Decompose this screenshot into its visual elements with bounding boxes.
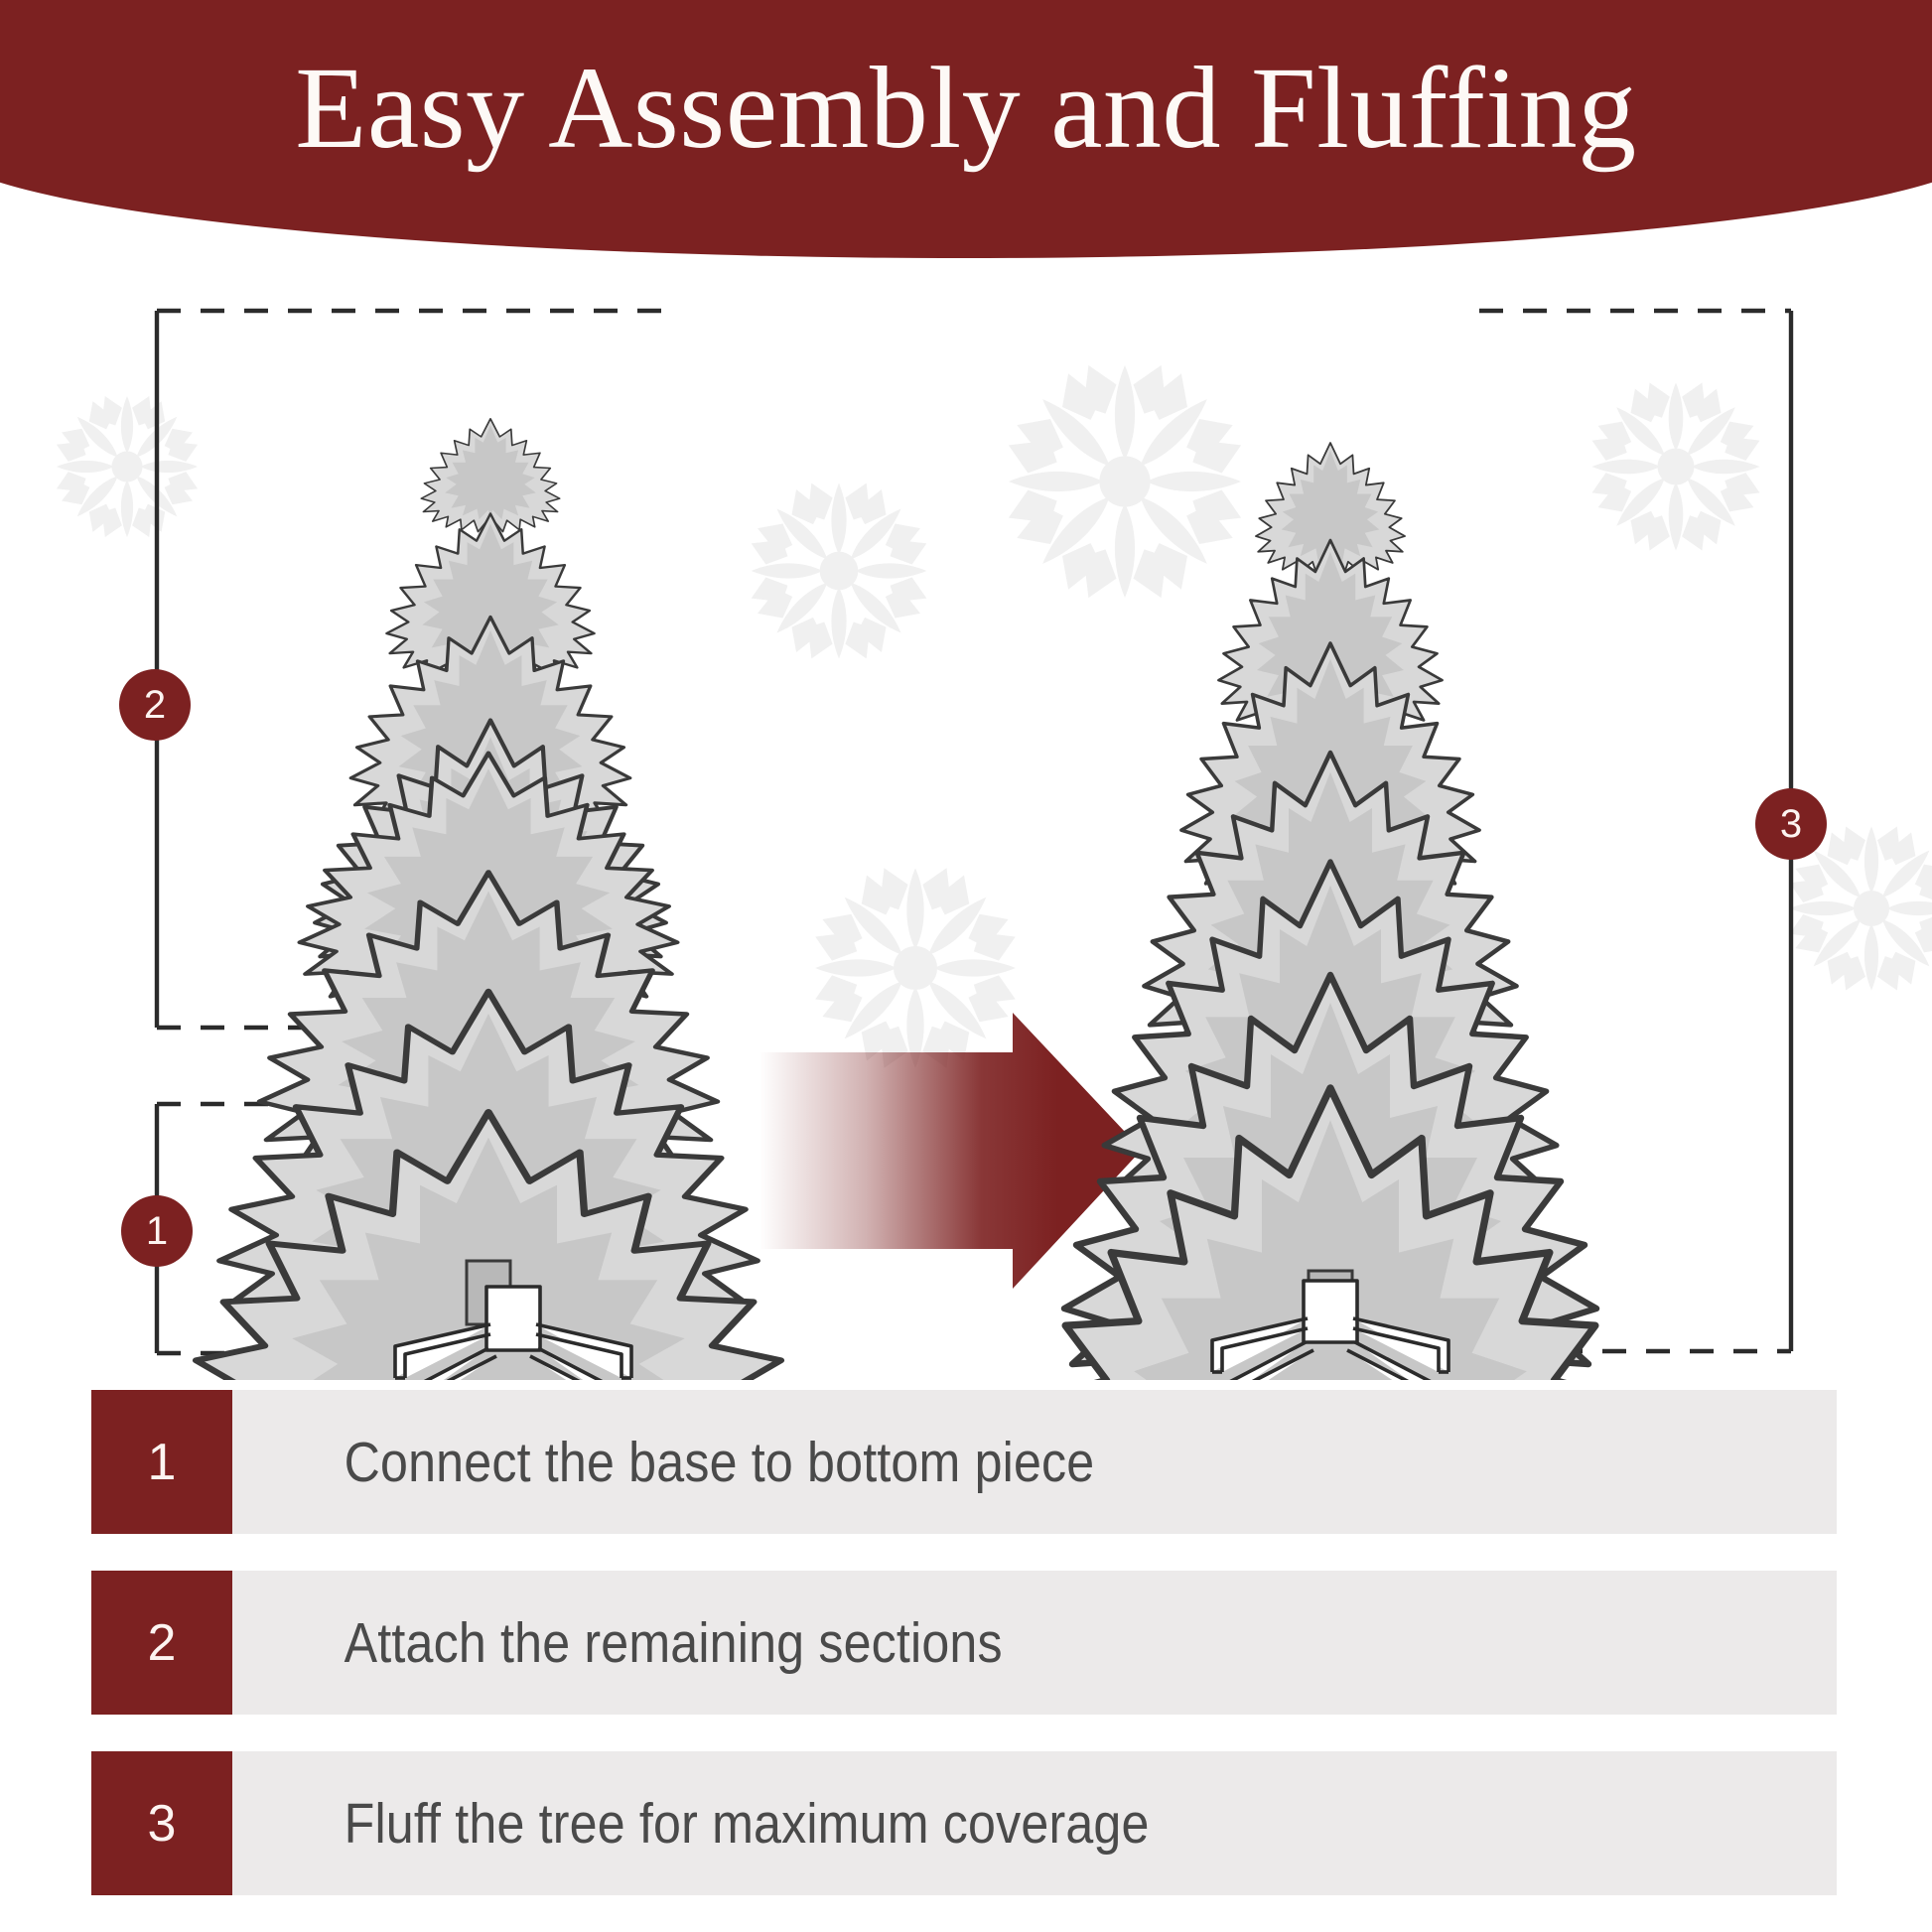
step-text-bar: Fluff the tree for maximum coverage bbox=[232, 1751, 1837, 1895]
snowflake-icon bbox=[57, 396, 198, 537]
step-label: Attach the remaining sections bbox=[232, 1610, 1003, 1676]
assembled-tree bbox=[1025, 443, 1636, 1380]
step-number-badge: 1 bbox=[91, 1390, 232, 1534]
snowflake-icon bbox=[752, 483, 927, 659]
infographic-page: Easy Assembly and Fluffing bbox=[0, 0, 1932, 1932]
step-label: Fluff the tree for maximum coverage bbox=[232, 1791, 1150, 1857]
bracket-badge-1: 1 bbox=[121, 1195, 193, 1267]
illustration-stage bbox=[0, 268, 1932, 1380]
step-number-badge: 3 bbox=[91, 1751, 232, 1895]
step-row: 3 Fluff the tree for maximum coverage bbox=[0, 1751, 1932, 1895]
step-row: 1 Connect the base to bottom piece bbox=[0, 1390, 1932, 1534]
header-banner: Easy Assembly and Fluffing bbox=[0, 0, 1932, 268]
step-row: 2 Attach the remaining sections bbox=[0, 1571, 1932, 1715]
step-text-bar: Attach the remaining sections bbox=[232, 1571, 1837, 1715]
snowflake-icon bbox=[1009, 365, 1241, 598]
step-list: 1 Connect the base to bottom piece 2 Att… bbox=[0, 1390, 1932, 1932]
step-text-bar: Connect the base to bottom piece bbox=[232, 1390, 1837, 1534]
bracket-badge-2: 2 bbox=[119, 669, 191, 741]
snowflake-icon bbox=[1592, 383, 1760, 551]
step-number-badge: 2 bbox=[91, 1571, 232, 1715]
step-label: Connect the base to bottom piece bbox=[232, 1430, 1094, 1495]
page-title: Easy Assembly and Fluffing bbox=[0, 44, 1932, 173]
snowflake-icon bbox=[815, 868, 1016, 1068]
assembly-illustration bbox=[0, 268, 1932, 1380]
bracket-badge-3: 3 bbox=[1755, 788, 1827, 860]
